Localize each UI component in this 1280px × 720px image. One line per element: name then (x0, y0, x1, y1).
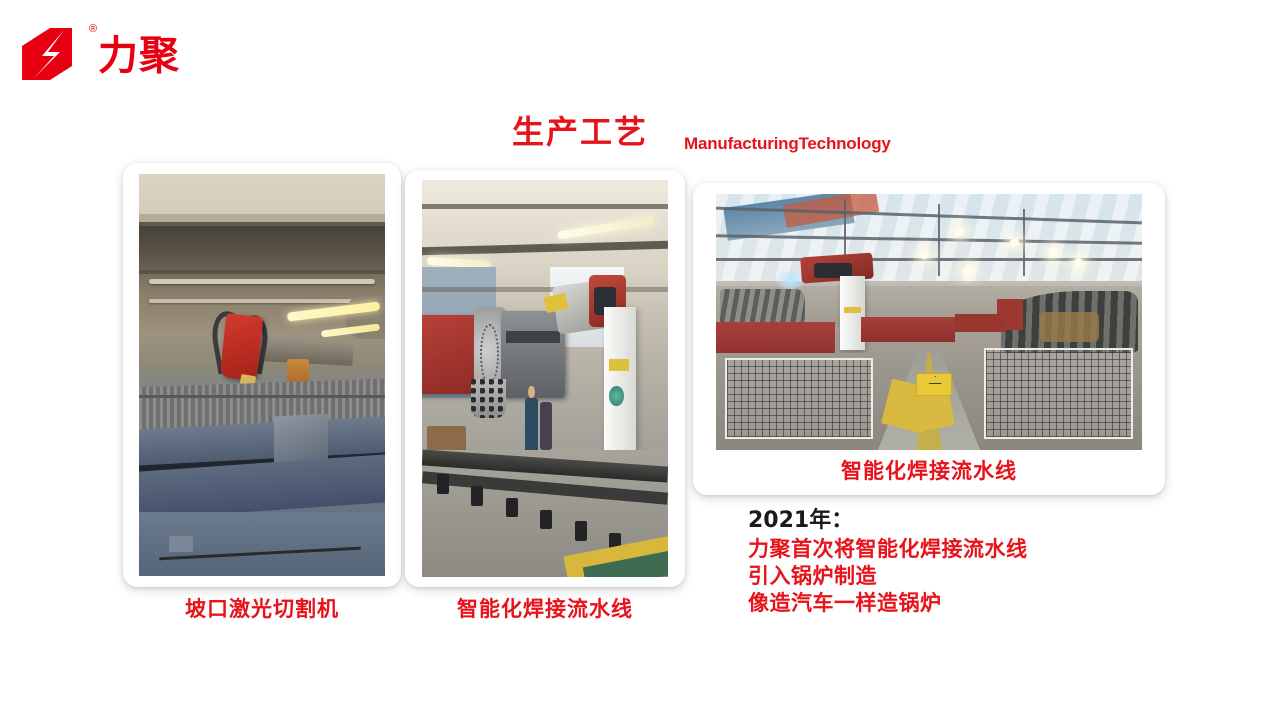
company-logo: ® 力聚 (20, 22, 210, 84)
liju-lightning-mark-icon (20, 26, 88, 82)
note-year: 2021年： (748, 505, 1078, 536)
registered-symbol: ® (89, 24, 97, 35)
note-line-3: 像造汽车一样造锅炉 (748, 590, 1078, 617)
slide-root: ® 力聚 生产工艺 ManufacturingTechnology (0, 0, 1280, 720)
caption-welding-line-wide: 智能化焊接流水线 (693, 455, 1165, 485)
page-title-en: ManufacturingTechnology (684, 134, 891, 154)
note-block: 2021年： 力聚首次将智能化焊接流水线 引入锅炉制造 像造汽车一样造锅炉 (748, 505, 1078, 617)
photo-card-laser-cutting (123, 163, 401, 587)
caption-welding-line: 智能化焊接流水线 (405, 596, 685, 622)
note-line-2: 引入锅炉制造 (748, 563, 1078, 590)
photo-card-welding-line-wide: 智能化焊接流水线 (693, 183, 1165, 495)
page-title-zh: 生产工艺 (512, 113, 648, 151)
photo-card-welding-line (405, 170, 685, 587)
intelligent-welding-line-photo (422, 180, 668, 577)
bevel-laser-cutting-machine-photo (139, 174, 385, 576)
logo-wordmark: 力聚 (98, 36, 180, 76)
intelligent-welding-line-wide-photo (716, 194, 1142, 450)
note-line-1: 力聚首次将智能化焊接流水线 (748, 536, 1078, 563)
caption-laser-cutting: 坡口激光切割机 (123, 596, 401, 622)
